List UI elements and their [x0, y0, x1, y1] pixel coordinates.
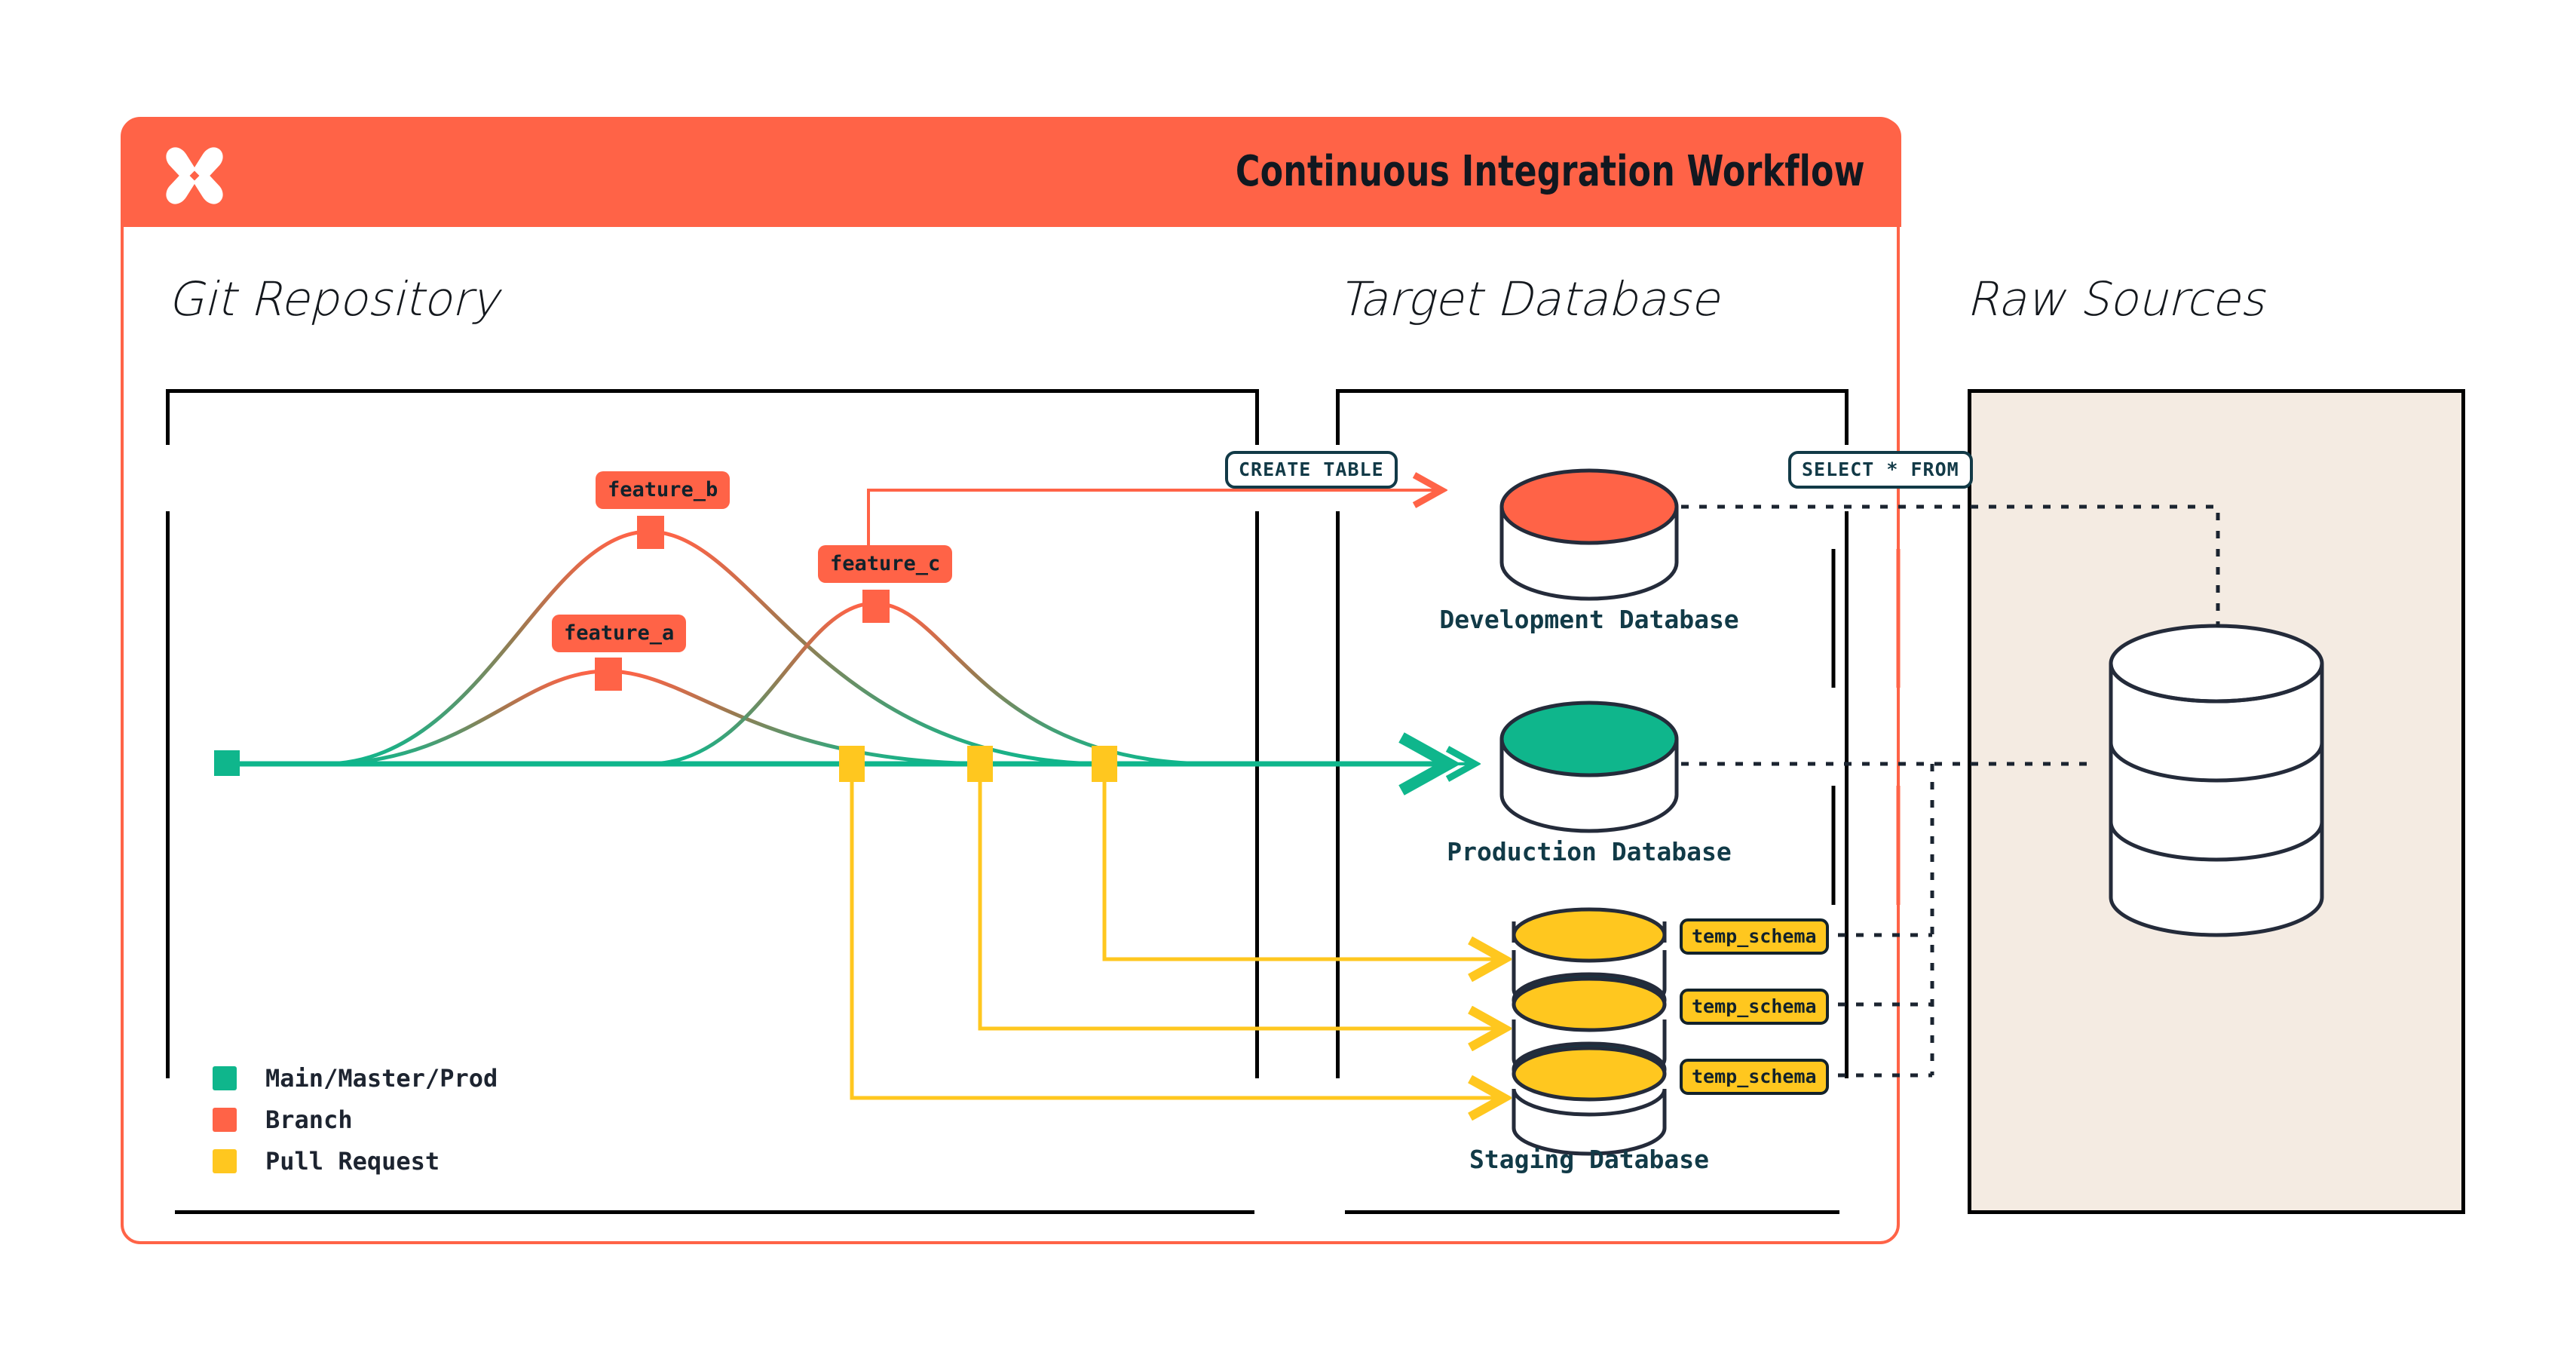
flow-dev-to-raw [1681, 507, 2218, 627]
caption-staging-database: Staging Database [1469, 1145, 1709, 1174]
production-database-cylinder [1502, 703, 1677, 831]
schema-badge-3[interactable]: temp_schema [1680, 1059, 1829, 1095]
branch-node-feature-a [595, 658, 622, 691]
raw-sources-cylinder [2111, 626, 2322, 935]
arrow-pr1-to-staging-bottom [852, 782, 1500, 1098]
branch-arcs [324, 532, 1214, 764]
schema-badge-1[interactable]: temp_schema [1680, 918, 1829, 955]
panel-divider-ticks [1833, 549, 1898, 905]
arrow-pr3-to-staging-top [1104, 782, 1500, 959]
sql-label-create-table[interactable]: CREATE TABLE [1225, 451, 1398, 489]
sql-label-select-from[interactable]: SELECT * FROM [1788, 451, 1973, 489]
staging-database-cylinder [1514, 909, 1665, 1154]
caption-production-database: Production Database [1447, 837, 1732, 866]
branch-label-feature-c[interactable]: feature_c [818, 545, 952, 583]
legend-item-branch: Branch [213, 1099, 498, 1140]
diagram-canvas: Continuous Integration Workflow Git Repo… [0, 0, 2576, 1346]
pr-node-1 [839, 746, 865, 782]
branch-arc-feature-a [324, 671, 995, 764]
branch-label-feature-a[interactable]: feature_a [552, 615, 686, 652]
schema-badge-2[interactable]: temp_schema [1680, 989, 1829, 1025]
legend-swatch-pr [213, 1149, 237, 1173]
legend-swatch-main [213, 1066, 237, 1090]
main-node [214, 750, 240, 776]
legend-label-main: Main/Master/Prod [265, 1064, 498, 1093]
legend-swatch-branch [213, 1108, 237, 1132]
branch-arc-feature-c [648, 603, 1214, 764]
branch-arc-feature-b [324, 532, 1108, 764]
branch-label-feature-b[interactable]: feature_b [596, 471, 730, 509]
branch-node-feature-c [862, 590, 890, 623]
legend-label-branch: Branch [265, 1105, 353, 1134]
arrow-branch-to-dev [868, 490, 1438, 550]
legend-item-main: Main/Master/Prod [213, 1057, 498, 1099]
pr-node-2 [967, 746, 993, 782]
legend-item-pr: Pull Request [213, 1140, 498, 1182]
legend: Main/Master/Prod Branch Pull Request [213, 1057, 498, 1182]
arrow-pr2-to-staging-middle [980, 782, 1500, 1029]
development-database-cylinder [1502, 471, 1677, 599]
branch-node-feature-b [637, 516, 664, 549]
caption-development-database: Development Database [1439, 605, 1738, 634]
legend-label-pr: Pull Request [265, 1147, 440, 1176]
pr-node-3 [1092, 746, 1117, 782]
